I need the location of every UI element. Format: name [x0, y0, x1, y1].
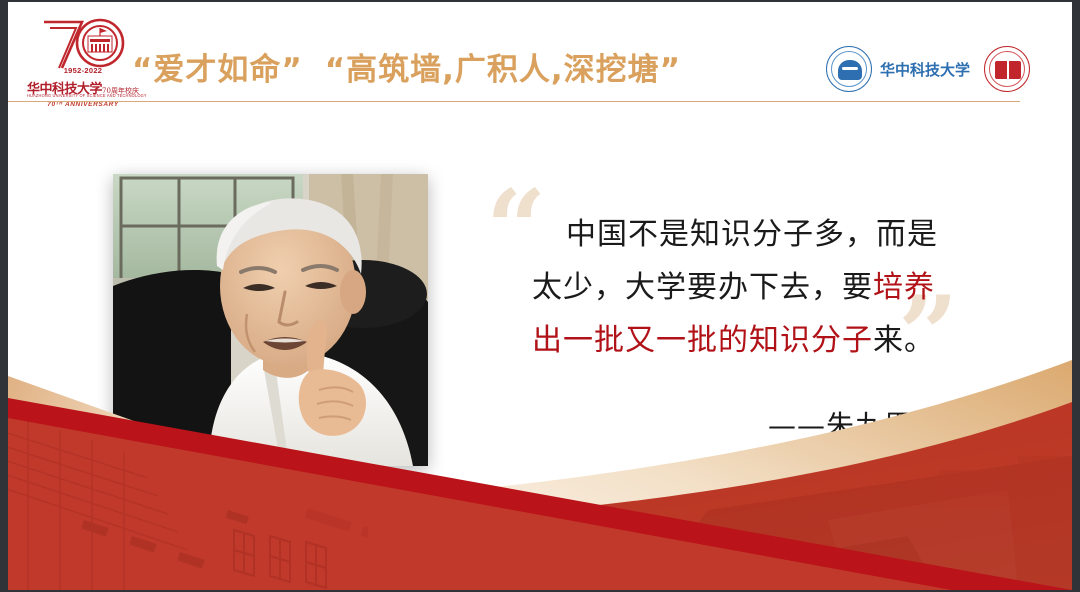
seventy-mark-icon	[38, 12, 130, 74]
anniversary-label-en: 70ᵀᴴ ANNIVERSARY	[24, 101, 142, 108]
page-title: “爱才如命”“高筑墙,广积人,深挖塘”	[132, 44, 681, 89]
slide-canvas: 1952-2022 华中科技大学70周年校庆 HUAZHONG UNIVERSI…	[8, 2, 1072, 590]
quote-line-3-text: 来。	[873, 323, 935, 358]
title-phrase-1: “爱才如命”	[132, 52, 303, 88]
header-divider	[8, 101, 1020, 102]
quote-line-3-highlight: 出一批又一批的知识分子	[532, 323, 873, 358]
university-seal-icon	[826, 46, 872, 92]
quote-line-2-text: 太少，大学要办下去，要	[532, 270, 873, 305]
anniversary-years: 1952-2022	[24, 66, 142, 75]
quote-line-1: 中国不是知识分子多，而是	[532, 208, 1032, 261]
quote-line-3: 出一批又一批的知识分子来。	[532, 314, 1032, 367]
header-logos: 华中科技大学	[826, 46, 1030, 92]
quote-text: 中国不是知识分子多，而是 太少，大学要办下去，要培养 出一批又一批的知识分子来。	[532, 208, 1032, 367]
title-phrase-2: “高筑墙,广积人,深挖塘”	[325, 52, 681, 88]
screenshot-frame: 1952-2022 华中科技大学70周年校庆 HUAZHONG UNIVERSI…	[0, 0, 1080, 592]
university-name-label: 华中科技大学	[880, 59, 970, 80]
quote-attribution: ——朱九思	[768, 404, 913, 444]
quote-line-1-text: 中国不是知识分子多，而是	[566, 217, 938, 252]
quote-line-2: 太少，大学要办下去，要培养	[532, 261, 1032, 314]
anniversary-university-en: HUAZHONG UNIVERSITY OF SCIENCE AND TECHN…	[27, 93, 139, 98]
book-seal-icon	[984, 46, 1030, 92]
quote-line-2-highlight: 培养	[873, 270, 935, 305]
portrait-photo	[113, 174, 428, 466]
quote-block: “ ” 中国不是知识分子多，而是 太少，大学要办下去，要培养 出一批又一批的知识…	[478, 182, 1038, 462]
slide-header: 1952-2022 华中科技大学70周年校庆 HUAZHONG UNIVERSI…	[8, 2, 1072, 110]
